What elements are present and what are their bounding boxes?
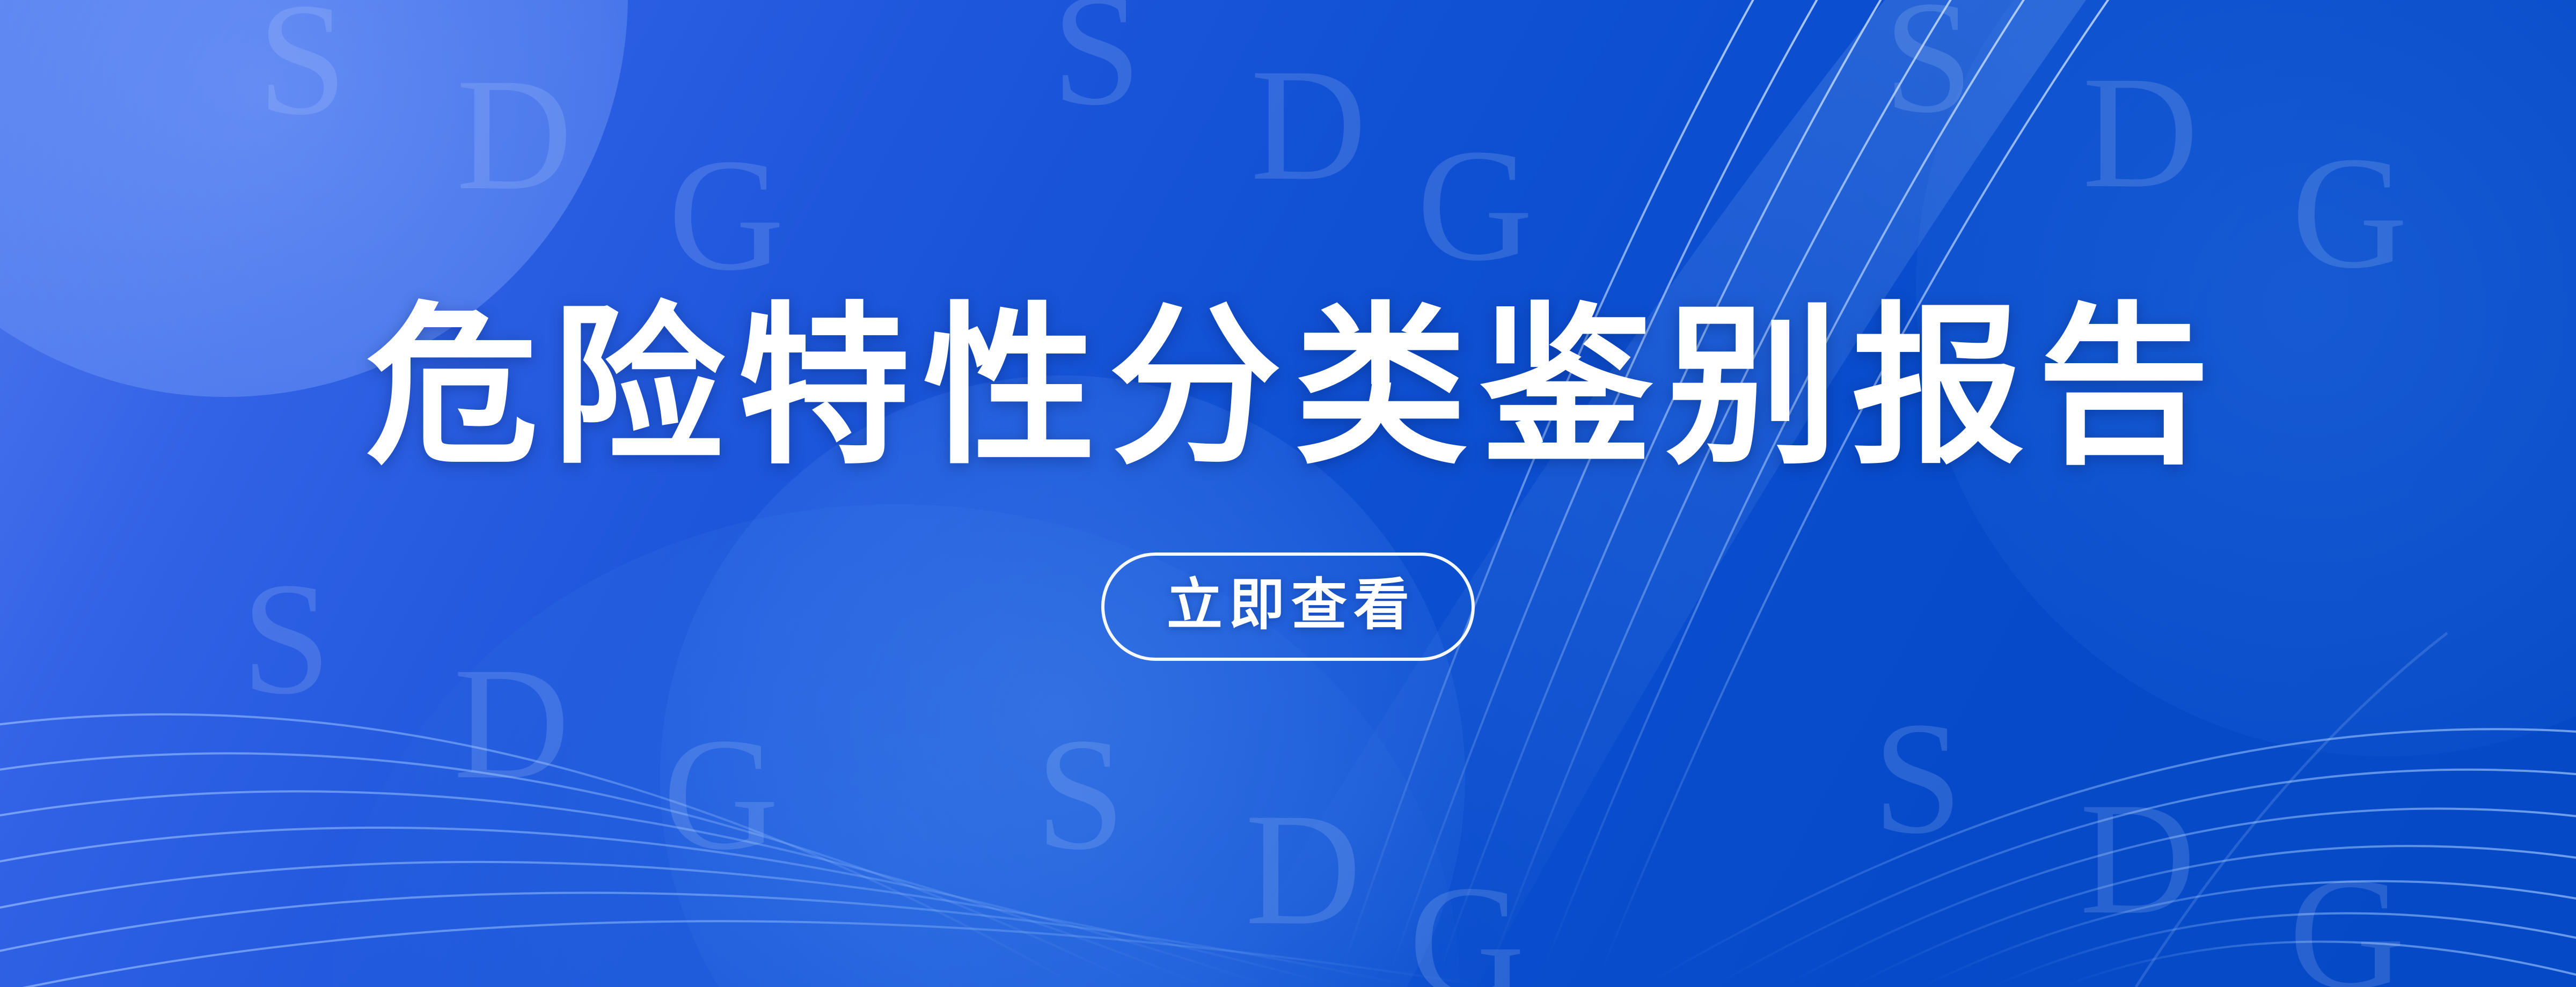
page-title: 危险特性分类鉴别报告 xyxy=(353,297,2223,478)
view-now-button[interactable]: 立即查看 xyxy=(1101,553,1475,661)
view-now-button-label: 立即查看 xyxy=(1160,574,1416,636)
banner-content: 危险特性分类鉴别报告 立即查看 xyxy=(0,0,2576,987)
promo-banner: S S S D D D G G G S D S S G D D G G 危险特性… xyxy=(0,0,2576,987)
